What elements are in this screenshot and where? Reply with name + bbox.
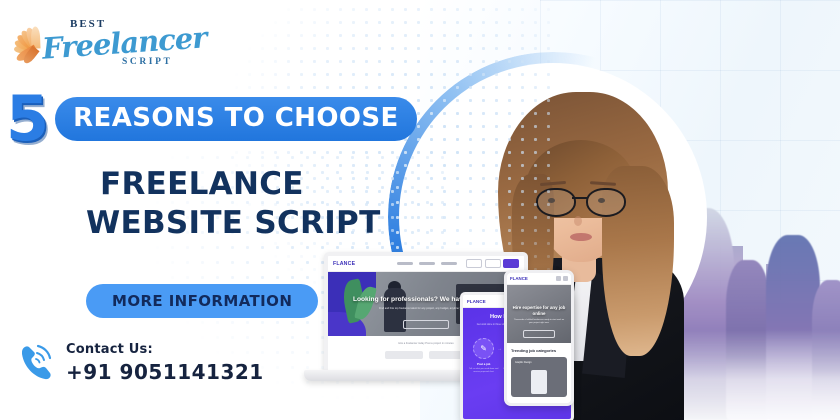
phone-ringing-icon bbox=[16, 340, 56, 384]
phone-card-tag: Graphic Design bbox=[515, 361, 531, 364]
phone-site-logo: FLANCE bbox=[510, 276, 528, 281]
headline-number: 5 bbox=[6, 88, 47, 150]
mockup-site-navbar: FLANCE bbox=[328, 256, 524, 272]
contact-block[interactable]: Contact Us: +91 9051141321 bbox=[16, 340, 264, 384]
mockup-hero-search bbox=[403, 320, 449, 329]
mockup-nav-links bbox=[397, 262, 457, 265]
contact-label: Contact Us: bbox=[66, 342, 153, 357]
menu-icon bbox=[563, 276, 568, 281]
subheadline-line-2: WEBSITE SCRIPT bbox=[86, 205, 381, 241]
mockup-nav-buttons bbox=[466, 259, 519, 268]
device-mockups: FLANCE Looking for professionals? We hav… bbox=[318, 252, 568, 420]
cart-icon bbox=[556, 276, 561, 281]
tablet-step: ✎ Post a job Tell us what you need done … bbox=[469, 338, 499, 374]
phone-mockup: FLANCE Hire expertise for any job online… bbox=[504, 270, 574, 406]
brand-logo[interactable]: BEST Freelancer SCRIPT bbox=[18, 12, 188, 74]
phone-category-card: Graphic Design bbox=[511, 357, 567, 397]
phone-hero-heading: Hire expertise for any job online bbox=[511, 305, 567, 316]
headline-row: 5 REASONS TO CHOOSE bbox=[6, 88, 417, 150]
phone-hero: Hire expertise for any job online Thousa… bbox=[507, 285, 571, 343]
step-icon: ✎ bbox=[473, 338, 494, 359]
step-arrow-icon: → bbox=[497, 346, 502, 352]
step-desc: Tell us what you need done and receive p… bbox=[469, 368, 499, 374]
mockup-site-logo: FLANCE bbox=[333, 261, 355, 267]
tablet-site-logo: FLANCE bbox=[467, 299, 486, 304]
logo-script-text: SCRIPT bbox=[122, 57, 172, 67]
headline-pill: REASONS TO CHOOSE bbox=[55, 97, 417, 141]
more-information-button[interactable]: MORE INFORMATION bbox=[86, 284, 318, 318]
phone-hero-button bbox=[523, 330, 555, 338]
phone-navbar: FLANCE bbox=[507, 273, 571, 285]
phone-hero-sub: Thousands of skilled freelancers ready t… bbox=[513, 319, 565, 325]
eyeglasses-icon bbox=[532, 188, 628, 214]
step-title: Post a job bbox=[469, 362, 499, 366]
phone-section-title: Trending job categories bbox=[511, 348, 567, 353]
contact-text: Contact Us: +91 9051141321 bbox=[66, 340, 264, 384]
promo-banner: FLANCE Looking for professionals? We hav… bbox=[0, 0, 840, 420]
subheadline-line-1: FREELANCE bbox=[100, 166, 304, 202]
contact-number[interactable]: +91 9051141321 bbox=[66, 360, 264, 384]
phone-section: Trending job categories Graphic Design bbox=[507, 343, 571, 402]
